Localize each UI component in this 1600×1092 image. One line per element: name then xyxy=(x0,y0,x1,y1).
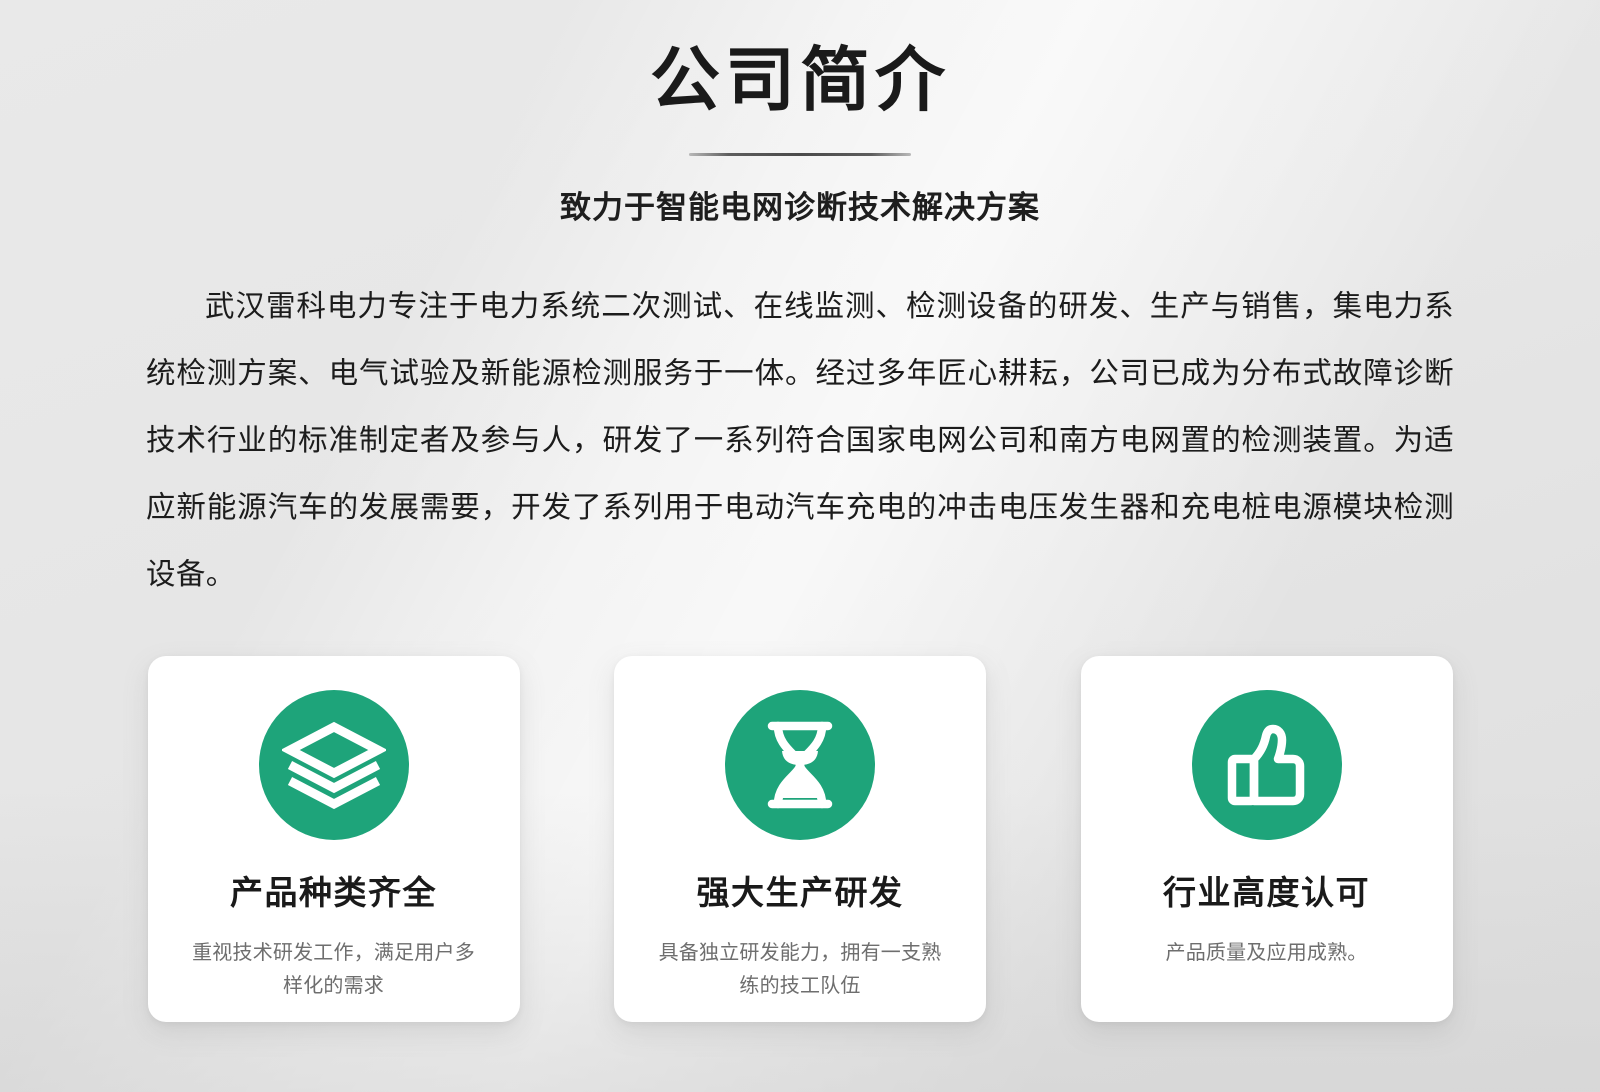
feature-card-title: 强大生产研发 xyxy=(697,873,904,913)
feature-card-description: 产品质量及应用成熟。 xyxy=(1117,937,1417,970)
feature-card[interactable]: 行业高度认可 产品质量及应用成熟。 xyxy=(1081,656,1453,1022)
feature-card[interactable]: 强大生产研发 具备独立研发能力，拥有一支熟练的技工队伍 xyxy=(614,656,986,1022)
feature-cards: 产品种类齐全 重视技术研发工作，满足用户多样化的需求 强大生产研发 具备独立 xyxy=(148,656,1453,1022)
company-intro-paragraph: 武汉雷科电力专注于电力系统二次测试、在线监测、检测设备的研发、生产与销售，集电力… xyxy=(146,273,1454,608)
feature-card-title: 产品种类齐全 xyxy=(230,873,437,913)
feature-card-description: 具备独立研发能力，拥有一支熟练的技工队伍 xyxy=(650,937,950,1003)
layers-icon xyxy=(259,690,409,840)
hourglass-icon xyxy=(725,690,875,840)
feature-card[interactable]: 产品种类齐全 重视技术研发工作，满足用户多样化的需求 xyxy=(148,656,520,1022)
company-profile-page: 公司简介 致力于智能电网诊断技术解决方案 武汉雷科电力专注于电力系统二次测试、在… xyxy=(0,0,1600,1092)
page-header: 公司简介 致力于智能电网诊断技术解决方案 xyxy=(0,0,1600,227)
page-subtitle: 致力于智能电网诊断技术解决方案 xyxy=(0,182,1600,227)
thumbs-up-icon xyxy=(1192,690,1342,840)
feature-card-description: 重视技术研发工作，满足用户多样化的需求 xyxy=(184,937,484,1003)
page-title: 公司简介 xyxy=(0,42,1600,119)
feature-card-title: 行业高度认可 xyxy=(1163,873,1370,913)
title-divider xyxy=(689,153,911,156)
